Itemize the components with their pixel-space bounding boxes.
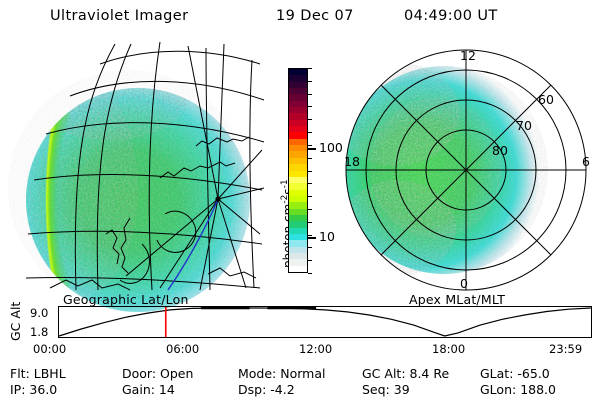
colorbar-minor-tick [308,260,312,261]
geographic-plot-svg [10,38,265,290]
status-field: GC Alt: 8.4 Re [362,366,449,381]
status-field: Seq: 39 [362,382,410,397]
status-field-key: Gain: [122,382,155,397]
colorbar-minor-tick [308,132,312,133]
status-field-value: LBHL [30,366,66,381]
status-field-value: 14 [155,382,175,397]
colorbar-minor-tick [308,106,312,107]
mlat-label-80: 80 [492,143,508,158]
status-field-value: Normal [276,366,325,381]
status-field-value: 188.0 [516,382,556,397]
status-row-secondary: IP: 36.0Gain: 14Dsp: -4.2Seq: 39GLon: 18… [10,382,594,397]
status-field: Flt: LBHL [10,366,66,381]
colorbar-minor-tick [308,222,312,223]
status-field-key: Flt: [10,366,30,381]
status-field-key: Mode: [238,366,276,381]
colorbar-minor-tick [308,171,312,172]
mlt-dial-svg: 12 6 0 18 60 70 80 [340,42,596,292]
status-field-value: -4.2 [266,382,294,397]
colorbar-minor-tick [308,209,312,210]
colorbar-minor-tick [308,183,312,184]
orbit-ytick-min: 1.8 [30,325,48,339]
status-field: GLat: -65.0 [480,366,550,381]
mlt-spokes [346,50,586,290]
geographic-polar-plot [10,38,265,290]
mlt-label-12: 12 [460,48,476,63]
orbit-xtick-1: 06:00 [166,342,199,356]
observation-time: 04:49:00 UT [404,8,498,24]
orbit-xtick-2: 12:00 [299,342,332,356]
status-field-value: 8.4 Re [406,366,450,381]
status-field-value: -65.0 [513,366,549,381]
apex-mlat-mlt-plot: 12 6 0 18 60 70 80 [340,42,596,292]
observation-date: 19 Dec 07 [276,8,354,24]
orbit-y-axis-label: GC Alt [6,305,32,341]
aurora-emission-right [332,62,548,276]
orbit-ytick-max: 9.0 [30,306,48,320]
orbit-xtick-0: 00:00 [33,342,66,356]
colorbar-minor-tick [308,273,312,274]
instrument-title: Ultraviolet Imager [50,8,188,24]
colorbar-minor-tick [308,247,312,248]
colorbar-minor-tick [308,158,312,159]
colorbar-major-tick [308,148,316,150]
right-plot-caption: Apex MLat/MLT [409,292,505,307]
colorbar-tick-label: 10 [319,229,335,244]
uvi-display: Ultraviolet Imager 19 Dec 07 04:49:00 UT [0,0,600,400]
colorbar-minor-tick [308,94,312,95]
status-field: Door: Open [122,366,193,381]
orbit-xtick-4: 23:59 [549,342,582,356]
status-row-primary: Flt: LBHLDoor: OpenMode: NormalGC Alt: 8… [10,366,594,381]
status-field: Mode: Normal [238,366,325,381]
mlt-label-18: 18 [344,154,360,169]
colorbar-minor-tick [308,235,312,236]
mlt-label-0: 0 [460,276,468,291]
status-field-key: IP: [10,382,25,397]
status-field-key: Dsp: [238,382,266,397]
orbit-track-svg [59,307,591,337]
mlat-label-60: 60 [538,92,554,107]
colorbar-minor-tick [308,68,312,69]
status-field-value: 36.0 [25,382,57,397]
orbit-xtick-3: 18:00 [432,342,465,356]
colorbar-major-tick [308,237,316,239]
status-field: GLon: 188.0 [480,382,556,397]
colorbar-minor-tick [308,119,312,120]
colorbar-axis-title: photon cm-2s-1 [268,68,278,268]
pole-marker [215,196,220,201]
status-field-key: GC Alt: [362,366,406,381]
status-field: IP: 36.0 [10,382,57,397]
colorbar-gradient [288,68,308,273]
status-field-value: Open [156,366,193,381]
orbit-altitude-panel [58,306,592,338]
left-plot-caption: Geographic Lat/Lon [63,292,189,307]
colorbar-band [289,266,307,272]
status-field: Dsp: -4.2 [238,382,295,397]
colorbar-minor-tick [308,196,312,197]
status-field-key: GLon: [480,382,516,397]
status-field: Gain: 14 [122,382,175,397]
status-field-key: Door: [122,366,156,381]
status-field-value: 39 [390,382,410,397]
mlat-label-70: 70 [516,118,532,133]
status-field-key: GLat: [480,366,513,381]
colorbar-minor-tick [308,145,312,146]
colorbar-minor-tick [308,81,312,82]
mlt-label-6: 6 [582,154,590,169]
status-field-key: Seq: [362,382,390,397]
